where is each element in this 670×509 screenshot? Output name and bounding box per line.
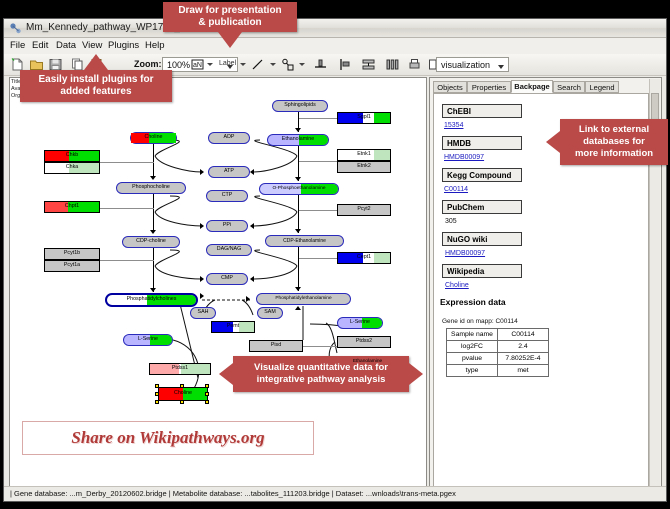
node-label: Etnk1 [357, 152, 371, 157]
node-etnk1[interactable]: Etnk1 [337, 149, 391, 161]
align-top-icon[interactable] [313, 57, 328, 72]
callout-draw: Draw for presentation & publication [163, 2, 297, 32]
selection-handle-e[interactable] [205, 392, 209, 396]
table-row: type met [447, 365, 549, 377]
selection-handle-se[interactable] [205, 400, 209, 404]
visualization-combobox[interactable]: visualization [436, 57, 509, 72]
node-sphingolipids[interactable]: Sphingolipids [272, 100, 328, 112]
node-label: Cept1 [357, 255, 371, 260]
node-label: DAG/NAG [217, 247, 241, 252]
node-label: Sphingolipids [284, 103, 316, 108]
arrowhead-ppi-r [250, 223, 254, 229]
node-chpt1-left[interactable]: Chpt1 [44, 201, 100, 213]
arrowhead-pe-up [295, 306, 301, 310]
selection-handle-w[interactable] [155, 392, 159, 396]
stack-icon[interactable] [361, 57, 376, 72]
node-o-phosphoethanolamine[interactable]: O-Phosphoethanolamine [259, 183, 339, 195]
pathvisio-app-icon [9, 22, 22, 35]
callout-plugins-line1: Easily install plugins for [38, 74, 153, 87]
callout-draw-line2: & publication [198, 17, 261, 30]
expression-data-header: Expression data [440, 297, 506, 307]
node-label: ADP [224, 135, 235, 140]
callout-visualize-tail-left-icon [219, 363, 233, 385]
pubchem-header: PubChem [442, 200, 522, 214]
callout-link: Link to external databases for more info… [560, 119, 668, 165]
connector-sgpl1 [299, 118, 338, 119]
cell-value: met [498, 365, 549, 377]
node-label: Pemt [227, 324, 239, 329]
wikipedia-link[interactable]: Choline [445, 282, 469, 289]
menu-bar: File Edit Data View Plugins Help [4, 38, 666, 55]
node-label: PPi [223, 223, 231, 228]
line-icon[interactable] [250, 57, 265, 72]
table-row: Sample name C00114 [447, 329, 549, 341]
expr-half-right [239, 322, 254, 332]
pubchem-value: 305 [445, 218, 457, 225]
arrowhead-atp-r [250, 169, 254, 175]
label-tool-icon[interactable]: Label [219, 60, 236, 67]
node-l-serine-right[interactable]: L-Serine [337, 317, 383, 329]
status-bar: | Gene database: ...m_Derby_20120602.bri… [4, 486, 666, 501]
chebi-header: ChEBI [442, 104, 522, 118]
node-cdp-ethanolamine[interactable]: CDP-Ethanolamine [265, 235, 344, 247]
shape-dropdown-arrow-icon[interactable] [299, 63, 305, 66]
node-label: L-Serine [350, 320, 370, 325]
node-label: Ptdss1 [172, 366, 188, 371]
hmdb-header: HMDB [442, 136, 522, 150]
node-label: ATP [224, 169, 234, 174]
chevron-down-icon-2 [498, 65, 504, 69]
cell-value: 7.80252E-4 [498, 353, 549, 365]
label-dropdown-arrow-icon[interactable] [240, 63, 246, 66]
node-label: L-Serine [138, 337, 158, 342]
tab-legend[interactable]: Legend [585, 81, 619, 93]
node-label: Pisd [271, 343, 281, 348]
node-pisd[interactable]: Pisd [249, 340, 303, 352]
node-label: Ptdss2 [356, 339, 372, 344]
node-phosphatidylethanolamine[interactable]: Phosphatidylethanolamine [256, 293, 351, 305]
svg-text:aN: aN [193, 62, 202, 69]
node-label: Choline [174, 391, 192, 396]
tab-search[interactable]: Search [553, 81, 585, 93]
node-label: Ethanolamine [353, 360, 382, 365]
selection-handle-ne[interactable] [205, 384, 209, 388]
node-label: Pcyt2 [357, 207, 370, 212]
node-label: O-Phosphoethanolamine [272, 187, 325, 192]
table-row: pvalue 7.80252E-4 [447, 353, 549, 365]
hmdb-link[interactable]: HMDB00097 [444, 154, 484, 161]
zoom-value: 100% [167, 60, 190, 70]
node-ctp[interactable]: CTP [206, 190, 248, 202]
menu-help[interactable]: Help [145, 40, 165, 51]
callout-plugins: Easily install plugins for added feature… [20, 70, 172, 102]
menu-edit[interactable]: Edit [32, 40, 48, 51]
line-dropdown-arrow-icon[interactable] [270, 63, 276, 66]
connector-chk [100, 162, 154, 163]
tab-properties[interactable]: Properties [467, 81, 511, 93]
node-label: Phosphatidylcholines [127, 297, 177, 302]
node-etnk2[interactable]: Etnk2 [337, 161, 391, 173]
node-choline-top[interactable]: Choline [130, 132, 177, 144]
cell-value: 2.4 [498, 341, 549, 353]
kegg-header: Kegg Compound [442, 168, 522, 182]
menu-file[interactable]: File [10, 40, 25, 51]
nugo-link[interactable]: HMDB00097 [445, 250, 485, 257]
node-label: CMP [221, 276, 233, 281]
menu-data[interactable]: Data [56, 40, 76, 51]
node-pemt[interactable]: Pemt [211, 321, 255, 333]
cell-label: Sample name [447, 329, 498, 341]
callout-share-text: Share on Wikipathways.org [71, 428, 264, 448]
screenshot-root: Mm_Kennedy_pathway_WP1771_45176.gpml Fil… [0, 0, 670, 509]
chebi-link[interactable]: 15354 [444, 122, 463, 129]
node-label: CTP [222, 193, 233, 198]
callout-link-line2: databases for [583, 136, 645, 148]
arrowhead-cmp [200, 276, 204, 282]
node-cdp-choline[interactable]: CDP-choline [122, 236, 180, 248]
menu-view[interactable]: View [82, 40, 102, 51]
menu-plugins[interactable]: Plugins [108, 40, 139, 51]
cell-label: type [447, 365, 498, 377]
callout-visualize-tail-right-icon [409, 363, 423, 385]
cell-label: pvalue [447, 353, 498, 365]
expr-half-right [374, 113, 390, 123]
node-ethanolamine-top[interactable]: Ethanolamine [267, 134, 329, 146]
selection-handle-s[interactable] [180, 400, 184, 404]
title-bar: Mm_Kennedy_pathway_WP1771_45176.gpml [4, 19, 666, 38]
selection-handle-n[interactable] [180, 384, 184, 388]
nugo-header: NuGO wiki [442, 232, 522, 246]
callout-link-line3: more information [575, 148, 653, 160]
callout-plugins-line2: added features [60, 86, 131, 99]
node-phosphocholine[interactable]: Phosphocholine [116, 182, 186, 194]
node-cmp[interactable]: CMP [206, 273, 248, 285]
cell-label: log2FC [447, 341, 498, 353]
distribute-icon[interactable] [385, 57, 400, 72]
node-pcyt1b[interactable]: Pcyt1b [44, 248, 100, 260]
selection-handle-nw[interactable] [155, 384, 159, 388]
arrowhead-cmp-r [250, 276, 254, 282]
node-sam[interactable]: SAM [257, 307, 283, 319]
arrowhead-atp [200, 169, 204, 175]
cell-value: C00114 [498, 329, 549, 341]
tab-backpage[interactable]: Backpage [511, 80, 553, 93]
node-label: Sgpl1 [357, 115, 371, 120]
zoom-label: Zoom: [134, 59, 162, 69]
connector-chpt1 [100, 208, 154, 209]
node-label: Chka [66, 165, 78, 170]
datanode-dropdown-arrow-icon[interactable] [207, 63, 213, 66]
callout-plugins-tail-icon [84, 54, 108, 70]
status-text: | Gene database: ...m_Derby_20120602.bri… [10, 489, 456, 498]
printer-icon[interactable] [407, 57, 422, 72]
node-pcyt2[interactable]: Pcyt2 [337, 204, 391, 216]
callout-visualize: Visualize quantitative data for integrat… [233, 356, 409, 392]
node-label: Phosphatidylethanolamine [275, 297, 331, 302]
node-choline-selected[interactable]: Choline [158, 387, 208, 401]
node-l-serine-left[interactable]: L-Serine [123, 334, 173, 346]
expression-table: Sample name C00114 log2FC 2.4 pvalue 7.8… [446, 328, 549, 377]
connector-pcyt2 [299, 210, 338, 211]
selection-handle-sw[interactable] [155, 400, 159, 404]
node-label: Pcyt1a [64, 263, 80, 268]
node-label: SAM [264, 310, 275, 315]
callout-draw-tail-icon [218, 32, 242, 48]
node-label: CDP-Ethanolamine [283, 239, 326, 244]
node-pcyt1a[interactable]: Pcyt1a [44, 260, 100, 272]
node-label: CDP-choline [136, 239, 166, 244]
connector-pcyt1 [100, 260, 154, 261]
node-label: Phosphocholine [132, 185, 170, 190]
node-label: SAH [198, 310, 209, 315]
kegg-link[interactable]: C00114 [444, 186, 468, 193]
shape-icon[interactable] [280, 57, 295, 72]
node-ptdss1[interactable]: Ptdss1 [149, 363, 211, 375]
node-sah[interactable]: SAH [190, 307, 216, 319]
expr-half-right [374, 253, 390, 263]
arrowhead-pc-right [200, 293, 204, 299]
node-adp[interactable]: ADP [208, 132, 250, 144]
node-ppi[interactable]: PPi [206, 220, 248, 232]
node-label: Choline [145, 135, 163, 140]
node-dag-nag[interactable]: DAG/NAG [206, 244, 252, 256]
node-label: Pcyt1b [64, 251, 80, 256]
connector-pisd [303, 346, 338, 347]
tab-objects[interactable]: Objects [433, 81, 467, 93]
node-chkb[interactable]: Chkb [44, 150, 100, 162]
arrowhead-pe-right [246, 296, 250, 302]
gene-id-on-mapp: Gene id on mapp: C00114 [442, 318, 518, 325]
node-atp[interactable]: ATP [208, 166, 250, 178]
callout-link-line1: Link to external [579, 124, 649, 136]
node-label: Chkb [66, 153, 78, 158]
arrowhead-ppi [200, 223, 204, 229]
expr-half-right [374, 150, 390, 160]
node-sgpl1[interactable]: Sgpl1 [337, 112, 391, 124]
node-ptdss2[interactable]: Ptdss2 [337, 336, 391, 348]
callout-draw-line1: Draw for presentation [178, 5, 281, 18]
datanode-icon[interactable]: aN [190, 57, 205, 72]
callout-share: Share on Wikipathways.org [22, 421, 314, 455]
table-row: log2FC 2.4 [447, 341, 549, 353]
visualization-value: visualization [441, 60, 490, 70]
callout-visualize-line2: integrative pathway analysis [257, 374, 386, 386]
node-chka[interactable]: Chka [44, 162, 100, 174]
node-phosphatidylcholines[interactable]: Phosphatidylcholines [105, 293, 198, 307]
connector-cept1 [299, 258, 338, 259]
wikipedia-header: Wikipedia [442, 264, 522, 278]
node-label: Ethanolamine [282, 137, 314, 142]
callout-link-tail-icon [546, 131, 560, 153]
node-label: Etnk2 [357, 164, 371, 169]
align-left-icon[interactable] [337, 57, 352, 72]
connector-etnk [299, 161, 338, 162]
node-label: Chpt1 [65, 204, 79, 209]
node-cept1[interactable]: Cept1 [337, 252, 391, 264]
